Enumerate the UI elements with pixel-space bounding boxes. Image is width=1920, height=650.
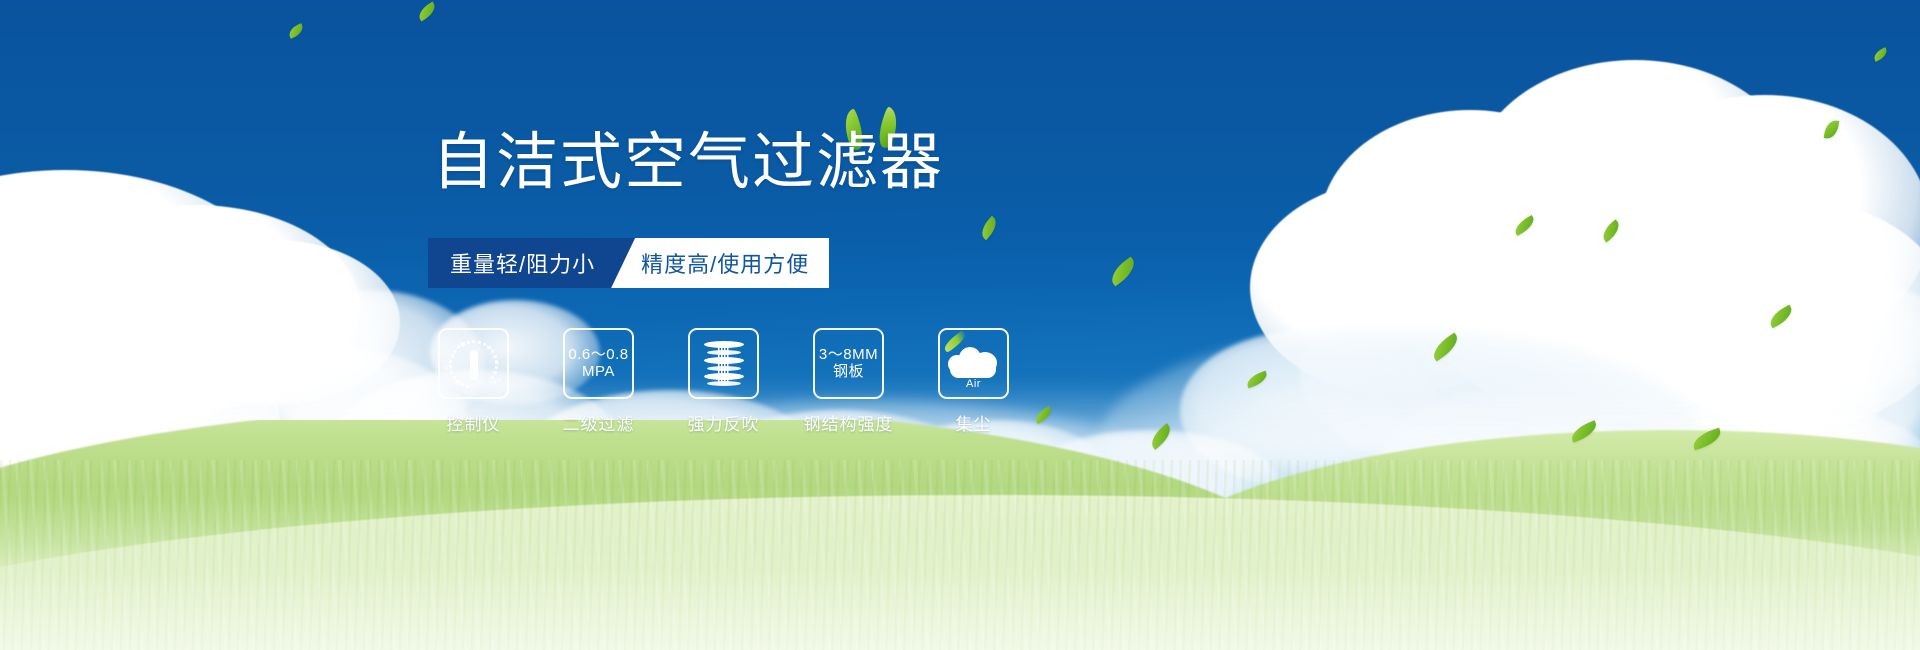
- steel-thickness: 3～8MM: [819, 347, 878, 364]
- dial-tick-dot: [456, 380, 459, 383]
- pressure-value: 0.6～0.8: [568, 347, 628, 364]
- dial-tick-dot: [493, 371, 496, 374]
- pressure-unit: MPA: [568, 364, 628, 381]
- dial-tick-dot: [472, 340, 475, 343]
- filter-ring: [707, 350, 741, 355]
- dial-tick-dot: [466, 385, 469, 388]
- steel-material: 钢板: [819, 364, 878, 381]
- dial-tick-dot: [449, 360, 452, 363]
- banner-content: 自洁式空气过滤器 重量轻/阻力小 精度高/使用方便 NO OFF 控制仪: [0, 0, 1920, 650]
- dial-tick-dot: [453, 376, 456, 379]
- filter-ring: [704, 341, 744, 348]
- feature-box: 0.6～0.8 MPA: [563, 328, 634, 399]
- cloud-base: [950, 361, 996, 378]
- feature-label-controller: 控制仪: [447, 410, 501, 435]
- filter-ring: [704, 357, 744, 364]
- dial-pointer: [470, 350, 478, 380]
- dial-tick-dot: [450, 371, 453, 374]
- filter-ring: [707, 381, 741, 386]
- dial-tick-dot: [461, 383, 464, 386]
- tag-left[interactable]: 重量轻/阻力小: [428, 238, 635, 288]
- dial-off-label: OFF: [489, 379, 502, 385]
- feature-box: [688, 328, 759, 399]
- feature-box: Air: [938, 328, 1009, 399]
- feature-item-steel-strength[interactable]: 3～8MM 钢板 钢结构强度: [813, 328, 884, 435]
- filter-stack-icon: [702, 339, 746, 389]
- feature-label-two-stage-filter: 二级过滤: [563, 410, 635, 435]
- dial-tick-dot: [453, 350, 456, 353]
- dial-tick-dot: [495, 360, 498, 363]
- feature-icon-row: NO OFF 控制仪 0.6～0.8 MPA 二级过滤: [438, 328, 1009, 435]
- feature-item-controller[interactable]: NO OFF 控制仪: [438, 328, 509, 435]
- feature-box: NO OFF: [438, 328, 509, 399]
- feature-item-two-stage-filter[interactable]: 0.6～0.8 MPA 二级过滤: [563, 328, 634, 435]
- dial-tick-dot: [451, 354, 454, 357]
- dial-tick-dot: [457, 345, 460, 348]
- air-label: Air: [946, 378, 1002, 390]
- dial-tick-dot: [483, 343, 486, 346]
- feature-label-dust-collection: 集尘: [956, 410, 992, 435]
- feature-item-blowback[interactable]: 强力反吹: [688, 328, 759, 435]
- air-cloud-icon: Air: [946, 341, 1002, 387]
- tag-right[interactable]: 精度高/使用方便: [611, 238, 829, 288]
- feature-box: 3～8MM 钢板: [813, 328, 884, 399]
- filter-ring: [704, 373, 744, 380]
- feature-label-steel-strength: 钢结构强度: [804, 410, 894, 435]
- dial-tick-dot: [495, 366, 498, 369]
- product-banner: 自洁式空气过滤器 重量轻/阻力小 精度高/使用方便 NO OFF 控制仪: [0, 0, 1920, 650]
- feature-tag-bar: 重量轻/阻力小 精度高/使用方便: [428, 238, 829, 288]
- steel-plate-text-icon: 3～8MM 钢板: [819, 347, 878, 381]
- dial-tick-dot: [493, 355, 496, 358]
- feature-item-dust-collection[interactable]: Air 集尘: [938, 328, 1009, 435]
- dial-knob-icon: NO OFF: [446, 339, 502, 389]
- pressure-text-icon: 0.6～0.8 MPA: [568, 347, 628, 381]
- banner-headline: 自洁式空气过滤器: [432, 132, 944, 194]
- dial-tick-dot: [478, 341, 481, 344]
- dial-tick-dot: [461, 342, 464, 345]
- dial-tick-dot: [491, 350, 494, 353]
- dial-tick-dot: [467, 341, 470, 344]
- dial-tick-dot: [487, 346, 490, 349]
- feature-label-blowback: 强力反吹: [688, 410, 760, 435]
- filter-ring: [707, 366, 741, 371]
